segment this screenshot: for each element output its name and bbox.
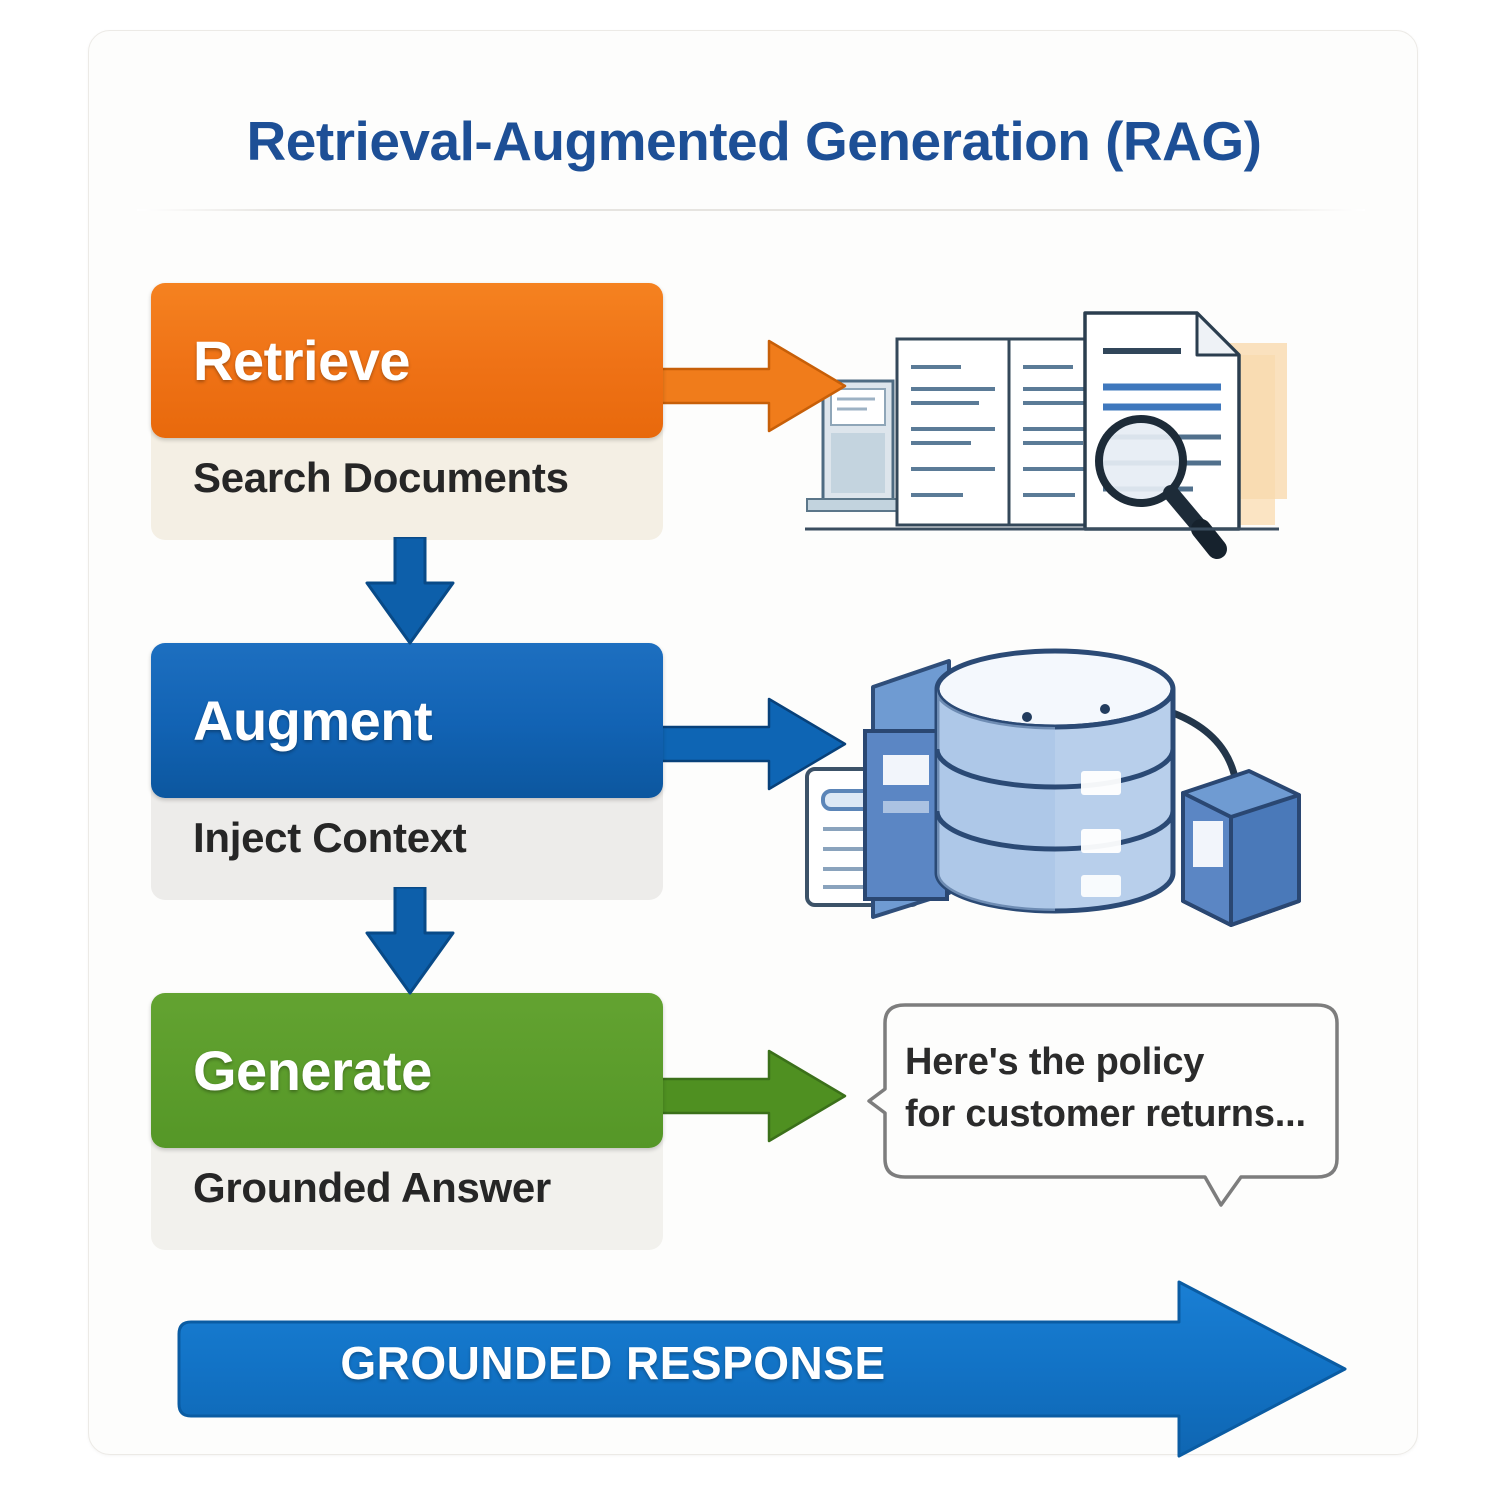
step-body-retrieve: Search Documents <box>151 422 663 540</box>
grounded-response-banner[interactable]: GROUNDED RESPONSE <box>173 1276 1353 1466</box>
step-caption-augment: Inject Context <box>151 814 663 862</box>
arrow-retrieve-to-documents <box>657 331 857 441</box>
title-divider <box>137 209 1365 211</box>
arrow-augment-to-generate <box>361 887 459 999</box>
diagram-canvas: Retrieval-Augmented Generation (RAG) Ret… <box>0 0 1500 1500</box>
step-caption-retrieve: Search Documents <box>151 454 663 502</box>
database-servers-illustration <box>789 631 1309 931</box>
step-body-augment: Inject Context <box>151 782 663 900</box>
step-label-augment: Augment <box>151 688 432 753</box>
step-header-augment: Augment <box>151 643 663 798</box>
speech-bubble-line-1: Here's the policy <box>905 1037 1325 1089</box>
arrow-augment-to-database <box>657 689 857 799</box>
arrow-generate-to-bubble <box>657 1041 857 1151</box>
step-header-generate: Generate <box>151 993 663 1148</box>
page-title: Retrieval-Augmented Generation (RAG) <box>89 109 1419 173</box>
step-card-generate[interactable]: Generate Grounded Answer <box>151 993 663 1250</box>
banner-label: GROUNDED RESPONSE <box>173 1336 1053 1390</box>
speech-bubble-illustration: Here's the policy for customer returns..… <box>849 1001 1349 1211</box>
speech-bubble-line-2: for customer returns... <box>905 1089 1325 1141</box>
step-header-retrieve: Retrieve <box>151 283 663 438</box>
step-label-generate: Generate <box>151 1038 432 1103</box>
diagram-card: Retrieval-Augmented Generation (RAG) Ret… <box>88 30 1418 1455</box>
step-body-generate: Grounded Answer <box>151 1132 663 1250</box>
step-card-retrieve[interactable]: Retrieve Search Documents <box>151 283 663 540</box>
step-card-augment[interactable]: Augment Inject Context <box>151 643 663 900</box>
documents-search-illustration <box>801 303 1321 573</box>
step-label-retrieve: Retrieve <box>151 328 410 393</box>
arrow-retrieve-to-augment <box>361 537 459 649</box>
speech-bubble-text: Here's the policy for customer returns..… <box>905 1037 1325 1140</box>
step-caption-generate: Grounded Answer <box>151 1164 663 1212</box>
